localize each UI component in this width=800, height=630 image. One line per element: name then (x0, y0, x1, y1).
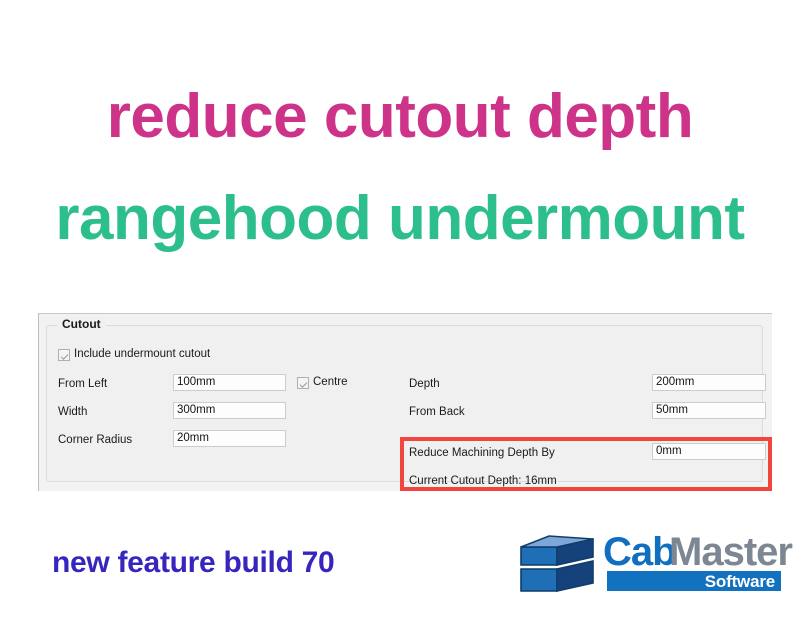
logo-word-cab: Cab (603, 531, 676, 573)
cabmaster-logo: Cab Master Software (519, 527, 781, 597)
centre-label: Centre (313, 376, 348, 389)
headline-secondary: rangehood undermount (0, 184, 800, 254)
cabmaster-wordmark: Cab Master Software (603, 531, 781, 593)
depth-input[interactable]: 200mm (652, 374, 766, 391)
cutout-groupbox: Cutout Include undermount cutout From Le… (46, 325, 763, 482)
width-input[interactable]: 300mm (173, 402, 286, 419)
corner-radius-input[interactable]: 20mm (173, 430, 286, 447)
checkbox-checked-icon (58, 349, 70, 361)
footer-note: new feature build 70 (52, 546, 334, 580)
from-back-input[interactable]: 50mm (652, 402, 766, 419)
cutout-dialog-screenshot: Cutout Include undermount cutout From Le… (38, 313, 772, 491)
reduce-machining-depth-label: Reduce Machining Depth By (409, 446, 555, 460)
reduce-machining-depth-input[interactable]: 0mm (652, 443, 766, 460)
cube-logo-icon (519, 535, 597, 595)
corner-radius-label: Corner Radius (58, 433, 132, 447)
cutout-groupbox-title: Cutout (57, 317, 106, 331)
headline-primary: reduce cutout depth (0, 82, 800, 152)
depth-label: Depth (409, 377, 440, 391)
current-cutout-depth-status: Current Cutout Depth: 16mm (409, 474, 557, 488)
from-left-input[interactable]: 100mm (173, 374, 286, 391)
width-label: Width (58, 405, 87, 419)
from-back-label: From Back (409, 405, 465, 419)
centre-checkbox[interactable]: Centre (297, 376, 348, 389)
logo-word-master: Master (669, 531, 792, 573)
from-left-label: From Left (58, 377, 107, 391)
include-undermount-cutout-label: Include undermount cutout (74, 348, 210, 361)
logo-word-software: Software (705, 572, 775, 591)
checkbox-checked-icon (297, 377, 309, 389)
include-undermount-cutout-checkbox[interactable]: Include undermount cutout (58, 348, 210, 361)
